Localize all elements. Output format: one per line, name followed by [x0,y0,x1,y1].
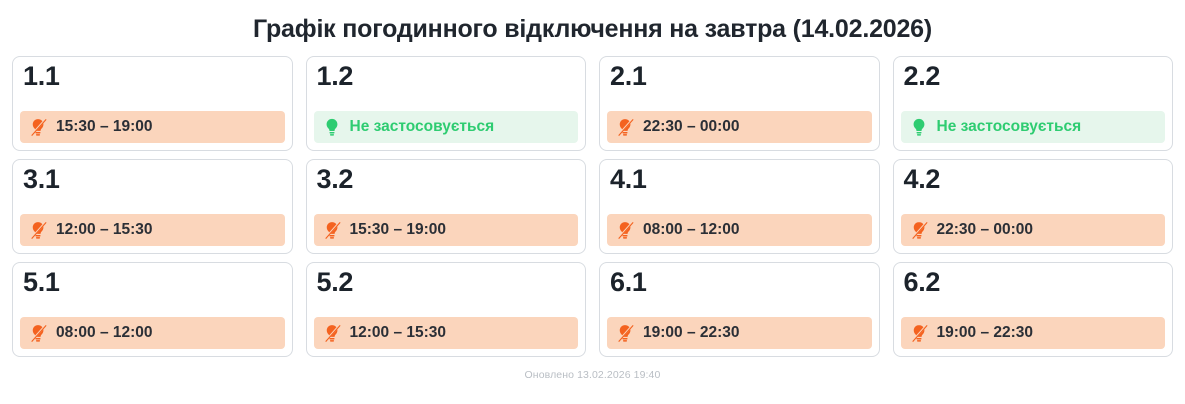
bulb-off-icon [909,323,929,343]
bulb-on-icon [909,117,929,137]
group-number: 6.1 [607,268,872,296]
group-card-grid: 1.115:30 – 19:001.2Не застосовується2.12… [0,56,1185,357]
outage-time-range: 19:00 – 22:30 [937,325,1034,341]
outage-status-band: 08:00 – 12:00 [607,214,872,246]
bulb-off-icon [28,323,48,343]
outage-status-band: 19:00 – 22:30 [607,317,872,349]
outage-status-band: 19:00 – 22:30 [901,317,1166,349]
outage-status-band: 15:30 – 19:00 [20,111,285,143]
outage-status-band: 15:30 – 19:00 [314,214,579,246]
outage-schedule-page: Графік погодинного відключення на завтра… [0,0,1185,404]
no-outage-status-band: Не застосовується [901,111,1166,143]
outage-status-band: 12:00 – 15:30 [314,317,579,349]
group-number: 6.2 [901,268,1166,296]
outage-time-range: 22:30 – 00:00 [937,222,1034,238]
group-number: 2.2 [901,62,1166,90]
group-number: 3.2 [314,165,579,193]
bulb-off-icon [28,117,48,137]
bulb-off-icon [322,323,342,343]
outage-time-range: 15:30 – 19:00 [56,119,153,135]
group-card[interactable]: 6.119:00 – 22:30 [599,262,880,357]
group-card[interactable]: 1.2Не застосовується [306,56,587,151]
group-card[interactable]: 6.219:00 – 22:30 [893,262,1174,357]
group-card[interactable]: 2.122:30 – 00:00 [599,56,880,151]
group-number: 4.2 [901,165,1166,193]
outage-time-range: 08:00 – 12:00 [643,222,740,238]
group-card[interactable]: 3.112:00 – 15:30 [12,159,293,254]
group-number: 3.1 [20,165,285,193]
group-card[interactable]: 2.2Не застосовується [893,56,1174,151]
no-outage-status-band: Не застосовується [314,111,579,143]
group-number: 5.2 [314,268,579,296]
outage-time-range: 15:30 – 19:00 [350,222,447,238]
bulb-off-icon [615,220,635,240]
outage-time-range: 22:30 – 00:00 [643,119,740,135]
outage-time-range: 19:00 – 22:30 [643,325,740,341]
group-card[interactable]: 4.108:00 – 12:00 [599,159,880,254]
group-card[interactable]: 3.215:30 – 19:00 [306,159,587,254]
bulb-off-icon [909,220,929,240]
group-card[interactable]: 5.212:00 – 15:30 [306,262,587,357]
no-outage-label: Не застосовується [937,119,1082,135]
bulb-off-icon [322,220,342,240]
outage-status-band: 12:00 – 15:30 [20,214,285,246]
group-number: 4.1 [607,165,872,193]
outage-status-band: 08:00 – 12:00 [20,317,285,349]
group-card[interactable]: 1.115:30 – 19:00 [12,56,293,151]
bulb-off-icon [28,220,48,240]
bulb-off-icon [615,323,635,343]
page-title: Графік погодинного відключення на завтра… [0,0,1185,56]
group-card[interactable]: 4.222:30 – 00:00 [893,159,1174,254]
group-number: 1.1 [20,62,285,90]
outage-status-band: 22:30 – 00:00 [607,111,872,143]
no-outage-label: Не застосовується [350,119,495,135]
group-number: 5.1 [20,268,285,296]
last-updated-label: Оновлено 13.02.2026 19:40 [0,357,1185,381]
outage-time-range: 08:00 – 12:00 [56,325,153,341]
outage-time-range: 12:00 – 15:30 [56,222,153,238]
group-number: 2.1 [607,62,872,90]
group-card[interactable]: 5.108:00 – 12:00 [12,262,293,357]
outage-status-band: 22:30 – 00:00 [901,214,1166,246]
outage-time-range: 12:00 – 15:30 [350,325,447,341]
bulb-on-icon [322,117,342,137]
bulb-off-icon [615,117,635,137]
group-number: 1.2 [314,62,579,90]
